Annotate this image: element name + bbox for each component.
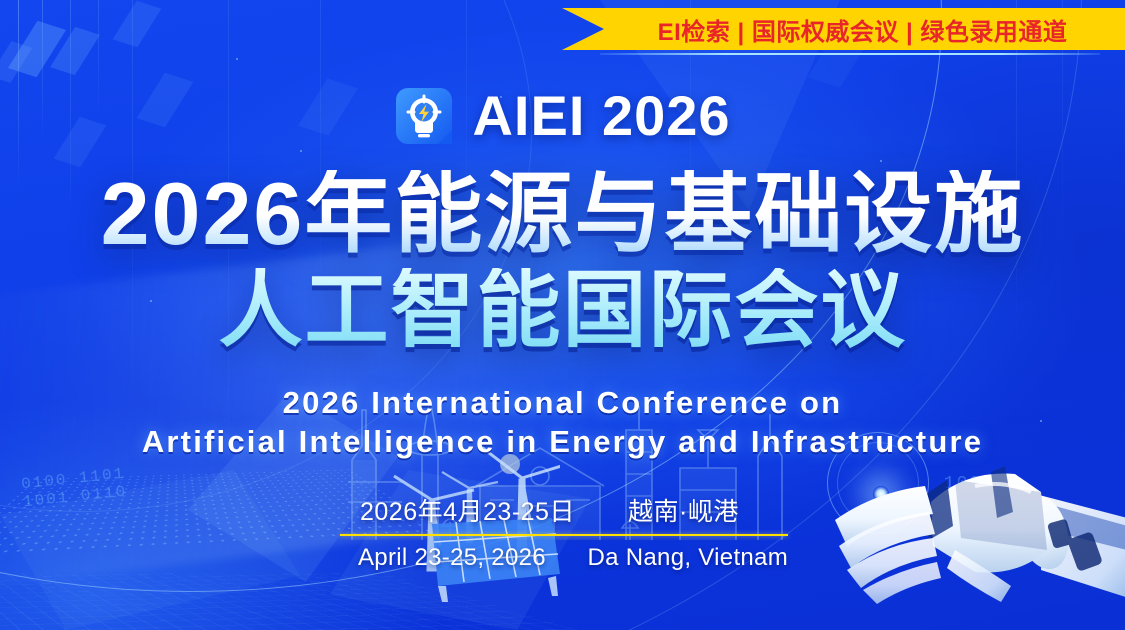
diamond-shape <box>113 1 162 47</box>
lightbulb-circuit-icon <box>394 86 454 146</box>
diamond-shape <box>0 41 32 83</box>
location-cn: 越南·岘港 <box>598 492 788 528</box>
date-location-block: 2026年4月23-25日 越南·岘港 April 23-25, 2026 Da… <box>340 492 788 572</box>
meta-row-cn: 2026年4月23-25日 越南·岘港 <box>340 492 788 534</box>
brand-row: AIEI 2026 <box>0 83 1125 148</box>
ribbon-text: EI检索 | 国际权威会议 | 绿色录用通道 <box>620 12 1068 47</box>
date-cn: 2026年4月23-25日 <box>340 492 598 528</box>
ribbon-badge: EI检索 | 国际权威会议 | 绿色录用通道 <box>562 8 1125 50</box>
conference-acronym: AIEI 2026 <box>472 83 730 148</box>
page-title-cn-line1: 2026年能源与基础设施 <box>0 170 1125 258</box>
subtitle-en-line2: Artificial Intelligence in Energy and In… <box>0 422 1125 461</box>
page-subtitle-en: 2026 International Conference on Artific… <box>0 383 1125 461</box>
subtitle-en-line1: 2026 International Conference on <box>0 383 1125 422</box>
diamond-shape <box>50 27 100 75</box>
binary-decoration: 0100 1101 1001 0110 <box>20 465 128 512</box>
page-title-cn-line2: 人工智能国际会议 <box>0 268 1125 352</box>
meta-row-en: April 23-25, 2026 Da Nang, Vietnam <box>340 536 788 572</box>
ribbon-underline <box>600 53 1100 55</box>
location-en: Da Nang, Vietnam <box>574 544 788 572</box>
conference-banner: 0100 1101 1001 0110 1001 0110 1100 <box>0 0 1125 630</box>
diamond-shape <box>8 21 66 77</box>
date-en: April 23-25, 2026 <box>340 544 574 572</box>
